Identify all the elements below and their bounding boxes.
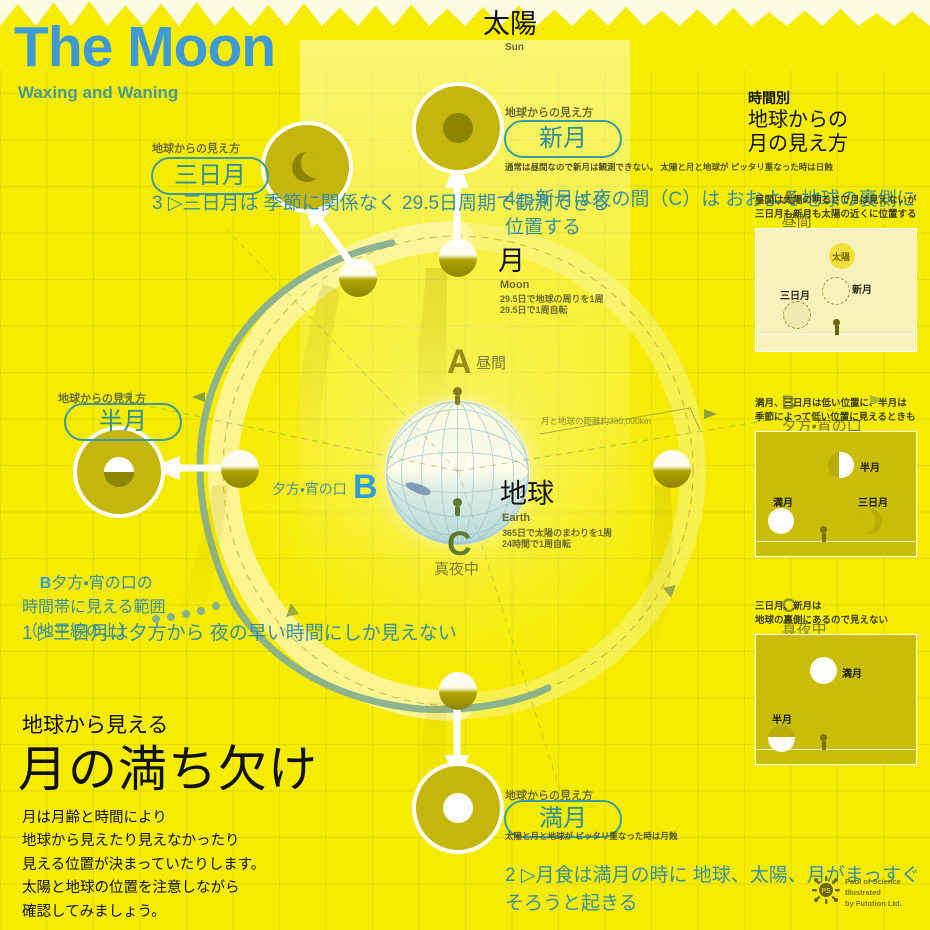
right-panel-kicker: 時間別: [748, 90, 790, 108]
phase-name-full: 満月: [539, 805, 587, 832]
page-subtitle: Waxing and Waning: [18, 82, 178, 103]
phase-caption-new: 地球からの見え方: [505, 104, 593, 120]
panel-a-crescent: [783, 301, 811, 329]
sun-label-ja: 太陽: [483, 8, 537, 42]
logo-text: Pool of Science Illustrated by Futotion …: [845, 877, 902, 910]
panel-a-scene: 太陽 新月 三日月: [755, 228, 917, 352]
panel-c-half-moon-label: 半月: [772, 711, 792, 726]
panel-b-scene: 半月 満月 三日月: [755, 431, 917, 557]
phase-pill-half: 半月: [64, 403, 182, 441]
infographic-canvas: 太陽 Sun The Moon Waxing and Waning: [0, 0, 930, 930]
step-2-num: 2: [505, 865, 516, 886]
marker-letter-c: C: [447, 527, 472, 561]
panel-c-full-moon-label: 満月: [842, 665, 862, 680]
moon-bead-full: [439, 672, 477, 710]
panel-a-sub: 昼間は太陽の明るさで月は見えないが 三日月も新月も太陽の近くに位置する: [755, 194, 917, 222]
phase-caption-crescent: 地球からの見え方: [152, 140, 240, 156]
step-1-num: 1: [22, 623, 33, 644]
svg-text:PS: PS: [821, 888, 831, 895]
panel-a: A 昼間 昼間は太陽の明るさで月は見えないが 三日月も新月も太陽の近くに位置する…: [755, 170, 915, 350]
earth-name-ja: 地球: [500, 478, 554, 512]
moon-bead-new: [439, 239, 477, 277]
right-panel-title: 地球からの 月の見え方: [748, 108, 848, 157]
view-circle-new-moon: [416, 86, 500, 170]
panel-c-half-moon: [768, 725, 795, 752]
moon-bead-right: [653, 450, 691, 488]
panel-c-full-moon: [810, 657, 837, 684]
panel-c-observer: [820, 734, 827, 750]
panel-a-new-moon-label: 新月: [852, 281, 872, 296]
bottom-body-text: 月は月齢と時間により 地球から見えたり見えなかったり 見える位置が決まっていたり…: [22, 807, 265, 924]
moon-name-ja: 月: [498, 245, 525, 279]
panel-b: B 夕方・宵の口 満月、三日月は低い位置に、半月は 季節によって低い位置に見える…: [755, 375, 915, 555]
panel-b-observer: [820, 526, 827, 542]
earth-description: 365日で太陽のまわりを1周 24時間で1周自転: [502, 528, 612, 551]
panel-c-scene: 満月 半月: [755, 634, 917, 765]
marker-label-c: 真夜中: [434, 561, 479, 580]
marker-label-b: 夕方・宵の口: [272, 481, 347, 499]
panel-b-half-moon: [828, 452, 854, 478]
panel-b-crescent-label: 三日月: [858, 494, 888, 509]
phase-note-full: 太陽と月と地球が ピッタリ重なった時は月蝕: [505, 830, 677, 842]
moon-name-en: Moon: [500, 279, 529, 293]
marker-letter-b: B: [353, 470, 378, 504]
earth-name-en: Earth: [502, 512, 530, 526]
bottom-headline: 月の満ち欠け: [18, 740, 318, 801]
observer-c: [453, 498, 462, 515]
moon-earth-distance-label: 月と地球の距離約380,000km: [541, 416, 651, 427]
panel-a-observer: [833, 319, 840, 335]
step-3-text: ▷三日月は 季節に関係なく 29.5日周期で観測できる: [168, 193, 610, 214]
pool-of-science-logo-icon: PS: [812, 876, 840, 904]
marker-label-a: 昼間: [476, 355, 506, 374]
step-1-text: ▷三日月は夕方から 夜の早い時間にしか見えない: [38, 623, 457, 644]
bottom-kicker: 地球から見える: [22, 713, 168, 739]
page-title: The Moon: [14, 12, 275, 83]
step-3: 3 ▷三日月は 季節に関係なく 29.5日周期で観測できる: [152, 190, 610, 218]
phase-name-half: 半月: [99, 408, 147, 435]
panel-b-half-moon-label: 半月: [860, 459, 880, 474]
panel-b-sub: 満月、三日月は低い位置に、半月は 季節によって低い位置に見えるときも: [755, 397, 915, 425]
panel-c-sub: 三日月、新月は 地球の裏側にあるので見えない: [755, 600, 888, 628]
panel-b-crescent: [856, 508, 882, 534]
view-circle-full-moon: [416, 766, 500, 850]
panel-b-full-moon: [768, 508, 794, 534]
step-1: 1 ▷三日月は夕方から 夜の早い時間にしか見えない: [22, 620, 457, 648]
moon-bead-half: [221, 450, 259, 488]
marker-letter-a: A: [447, 345, 472, 379]
moon-bead-crescent: [339, 259, 377, 297]
phase-name-crescent: 三日月: [174, 162, 246, 189]
step-3-num: 3: [152, 193, 163, 214]
panel-a-crescent-label: 三日月: [780, 287, 810, 302]
phase-pill-new: 新月: [504, 120, 622, 158]
phase-name-new: 新月: [539, 125, 587, 152]
panel-c: C 真夜中 三日月、新月は 地球の裏側にあるので見えない 満月 半月: [755, 578, 915, 763]
panel-b-full-moon-label: 満月: [773, 494, 793, 509]
sun-label-en: Sun: [505, 42, 524, 55]
panel-a-sun-label: 太陽: [832, 250, 850, 263]
moon-description: 29.5日で地球の周りを1周 29.5日で1周自転: [500, 294, 604, 317]
observer-a: [453, 387, 462, 404]
view-circle-half-moon: [77, 430, 161, 514]
panel-a-new-moon: [822, 277, 850, 305]
